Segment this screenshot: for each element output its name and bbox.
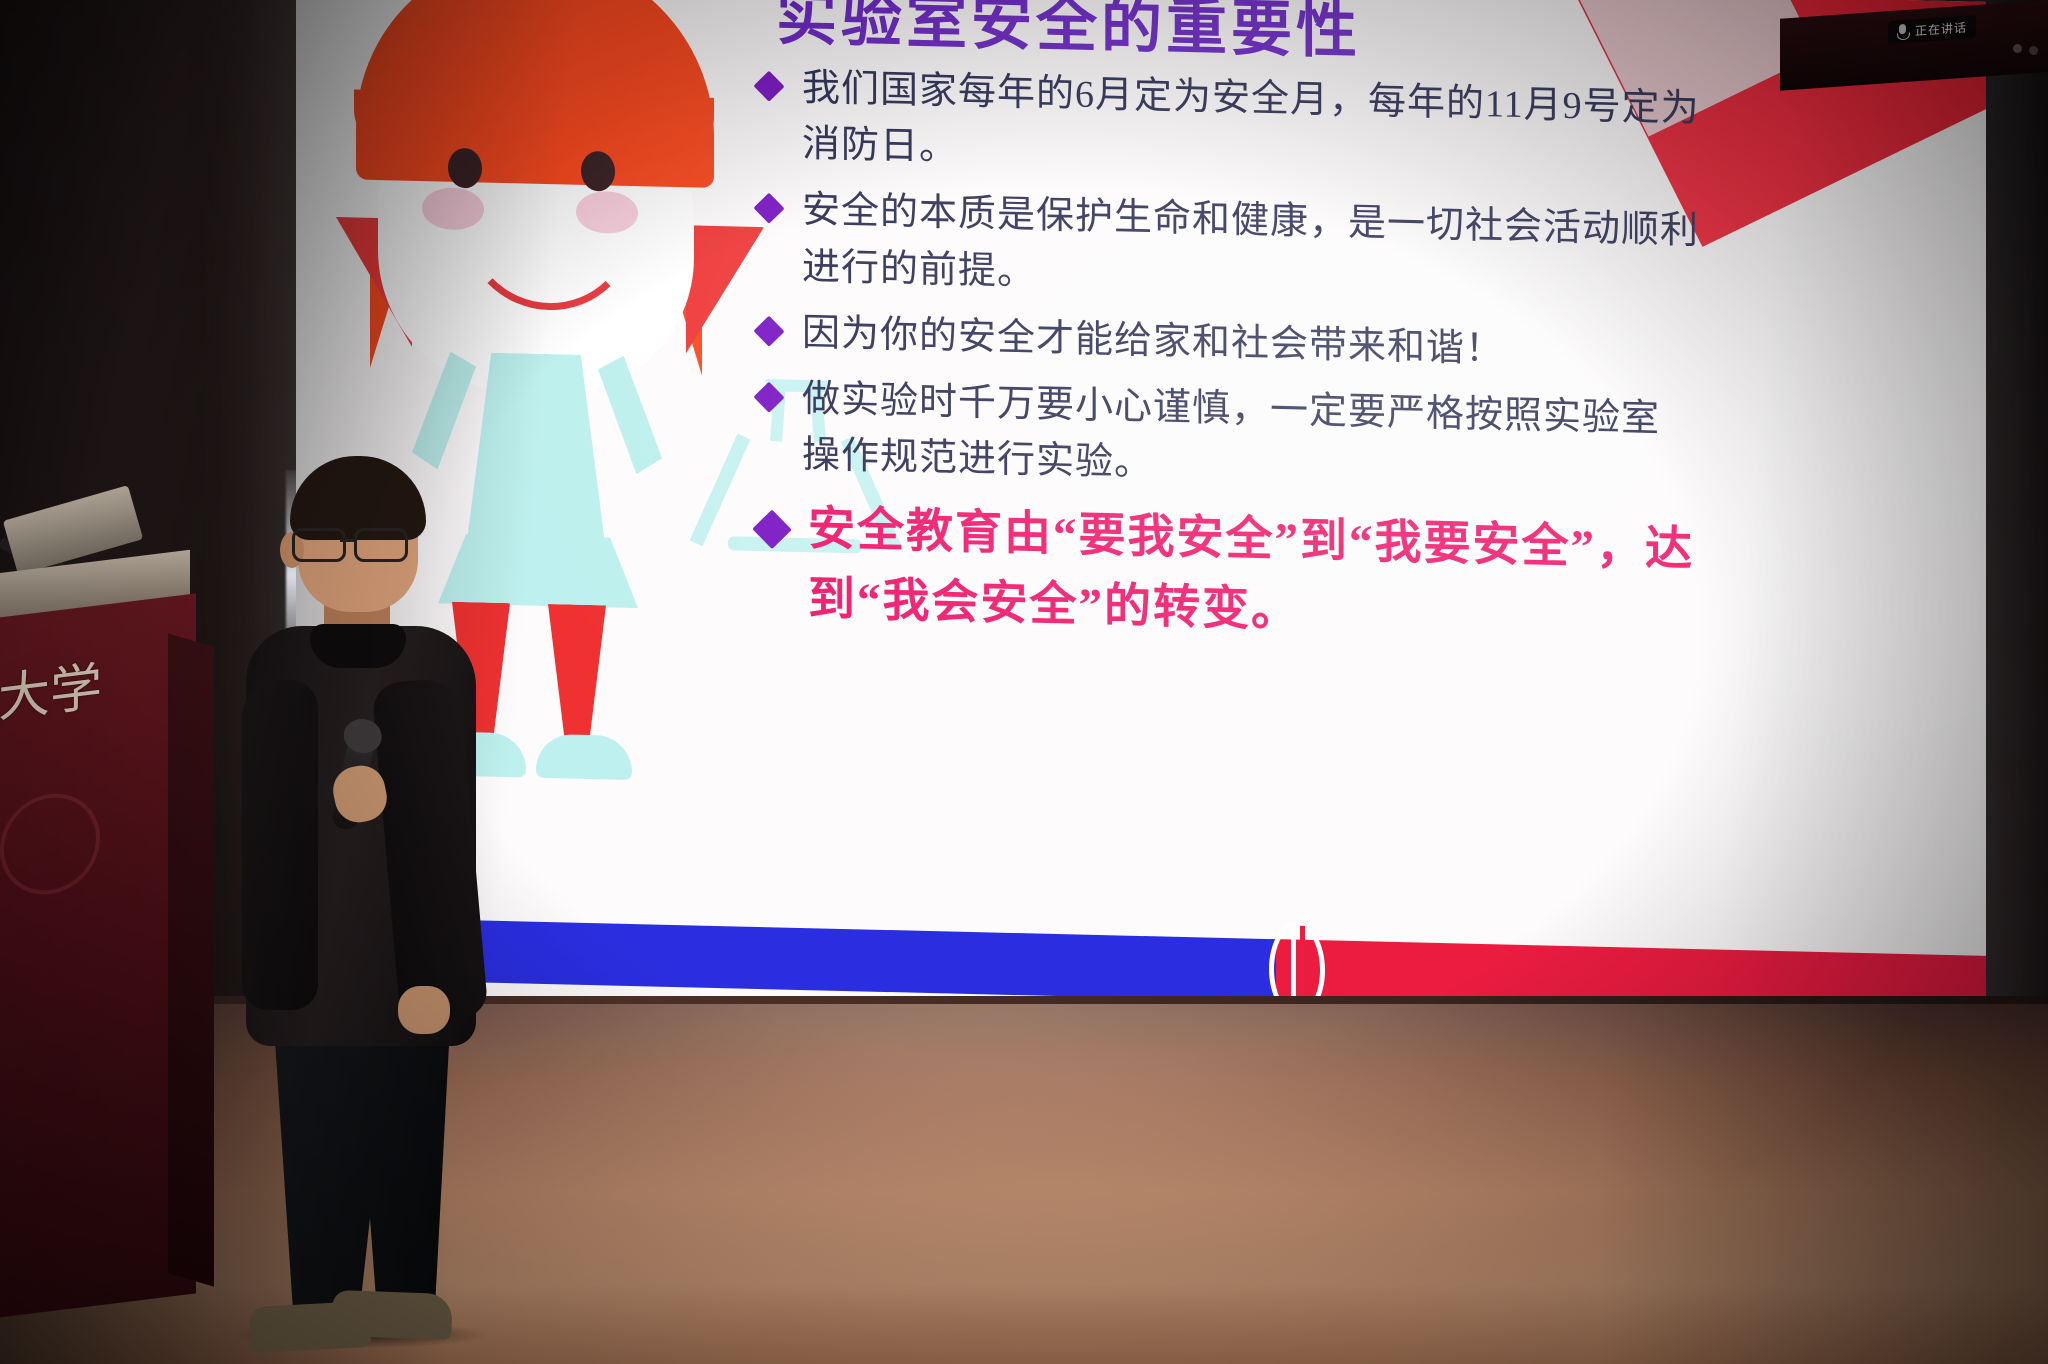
eyeglasses-icon [292, 528, 422, 558]
bullet-text-highlight: 安全教育由“要我安全”到“我要安全”，达 到“我会安全”的转变。 [808, 494, 1694, 656]
character-fringe [354, 89, 714, 157]
presenter-legs [262, 1026, 462, 1326]
microphone-icon [1897, 23, 1908, 40]
character-arm-left [412, 351, 476, 471]
slide-bullet-list: 我们国家每年的6月定为安全月，每年的11月9号定为 消防日。 安全的本质是保护生… [758, 59, 1948, 672]
character-leg-right [548, 604, 606, 737]
presentation-slide: 实验室安全的重要性 我们国家每年的6月定为安全月，每年的11月9号定为 消防日。… [296, 0, 1986, 1070]
presenter-person [236, 466, 486, 1346]
projection-screen: 实验室安全的重要性 我们国家每年的6月定为安全月，每年的11月9号定为 消防日。… [296, 0, 1986, 1070]
diamond-bullet-icon [753, 71, 784, 102]
diamond-bullet-icon [752, 509, 792, 549]
character-shoe-right [536, 734, 632, 780]
speaking-status-label: 正在讲话 [1915, 19, 1967, 40]
diamond-bullet-icon [753, 193, 784, 224]
presenter-collar [310, 624, 406, 668]
bullet-item-highlight: 安全教育由“要我安全”到“我要安全”，达 到“我会安全”的转变。 [758, 493, 1948, 662]
diamond-bullet-icon [753, 316, 784, 347]
presenter-hand-right [398, 986, 450, 1034]
character-eye-left [448, 148, 482, 189]
bullet-text: 安全的本质是保护生命和健康，是一切社会活动顺利 进行的前提。 [802, 182, 1699, 316]
bullet-item: 安全的本质是保护生命和健康，是一切社会活动顺利 进行的前提。 [758, 181, 1948, 322]
character-arm-right [598, 355, 662, 475]
bullet-text: 我们国家每年的6月定为安全月，每年的11月9号定为 消防日。 [802, 60, 1700, 194]
lectern-podium: 大学 [0, 544, 216, 1304]
bullet-item: 做实验时千万要小心谨慎，一定要严格按照实验室 操作规范进行实验。 [758, 370, 1948, 511]
hair-pigtail-right [686, 225, 764, 355]
character-eye-right [581, 151, 615, 192]
overlay-indicator-dot-2 [2029, 46, 2038, 55]
diamond-bullet-icon [753, 382, 784, 413]
presenter-shoe-right [331, 1290, 453, 1340]
bullet-text: 做实验时千万要小心谨慎，一定要严格按照实验室 操作规范进行实验。 [802, 371, 1660, 504]
presenter-arm-left [242, 680, 318, 1010]
stage-photo: 实验室安全的重要性 我们国家每年的6月定为安全月，每年的11月9号定为 消防日。… [0, 0, 2048, 1364]
bullet-text: 因为你的安全才能给家和社会带来和谐！ [802, 305, 1504, 378]
podium-side-panel [168, 633, 214, 1286]
overlay-indicator-dot-1 [2013, 44, 2022, 53]
